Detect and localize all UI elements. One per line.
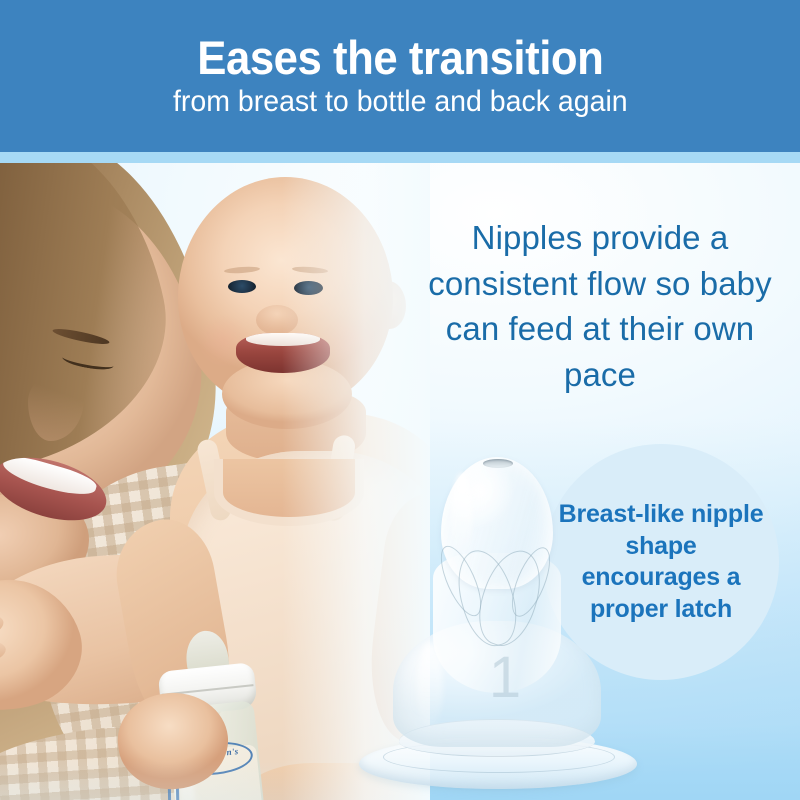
main-stage: Dr. Brown's Nipples provide a consistent…	[0, 163, 800, 800]
header-subtitle: from breast to bottle and back again	[173, 86, 628, 118]
nipple-gloss-highlight	[451, 473, 473, 561]
baby-smiling-mouth	[236, 333, 330, 373]
header-divider-rule	[0, 152, 800, 163]
baby-teeth	[246, 333, 320, 346]
baby-eye-left	[228, 280, 256, 293]
baby-eye-right	[294, 281, 323, 295]
nipple-flow-level-number: 1	[355, 649, 655, 707]
body-copy: Nipples provide a consistent flow so bab…	[424, 215, 776, 397]
nipple-feeding-hole	[483, 459, 513, 468]
header-banner: Eases the transition from breast to bott…	[0, 0, 800, 152]
baby-nose	[256, 305, 298, 335]
promo-canvas: Eases the transition from breast to bott…	[0, 0, 800, 800]
header-title: Eases the transition	[197, 34, 603, 82]
baby-romper-neckline	[214, 459, 364, 526]
product-nipple-image: 1	[355, 453, 655, 800]
